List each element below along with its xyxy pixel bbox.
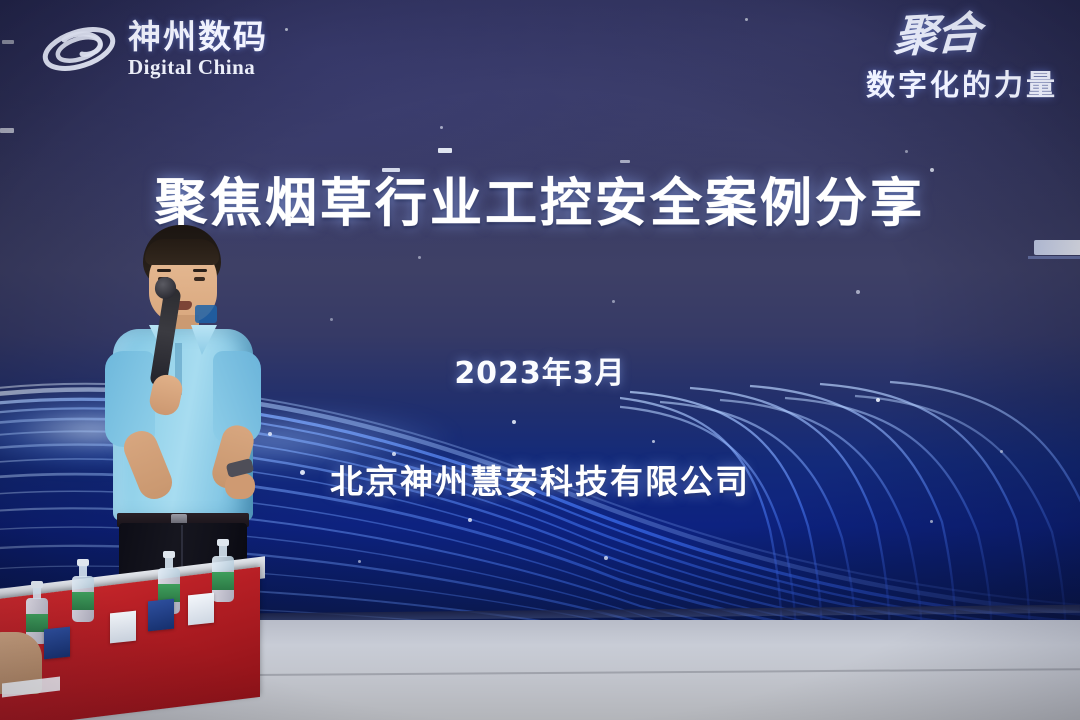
presenter-shirt-logo — [195, 305, 217, 323]
brand-name-en: Digital China — [128, 57, 268, 78]
event-subtitle: 数字化的力量 — [808, 62, 1058, 104]
head-table — [0, 560, 280, 720]
digital-china-swirl-icon — [40, 18, 118, 80]
name-card — [188, 593, 214, 626]
presenter-brow-left — [157, 269, 171, 272]
presenter-brow-right — [193, 269, 207, 272]
event-slogan-logo: 聚合 数字化的力量 — [808, 16, 1058, 104]
presenter-eye-right — [194, 277, 205, 281]
water-bottle — [212, 556, 234, 602]
name-card — [110, 611, 136, 644]
conference-stage-scene: 神州数码 Digital China 聚合 数字化的力量 聚焦烟草行业工控安全案… — [0, 0, 1080, 720]
digital-china-logo: 神州数码 Digital China — [40, 18, 268, 80]
name-card — [148, 599, 174, 632]
event-calligraphy: 聚合 — [806, 12, 979, 65]
presenter-fringe — [145, 239, 219, 265]
name-card — [44, 627, 70, 660]
screen-edge-highlight-line — [1028, 256, 1080, 259]
screen-edge-highlight-bar — [1034, 240, 1080, 255]
brand-name-cn: 神州数码 — [128, 20, 268, 53]
water-bottle — [72, 576, 94, 622]
